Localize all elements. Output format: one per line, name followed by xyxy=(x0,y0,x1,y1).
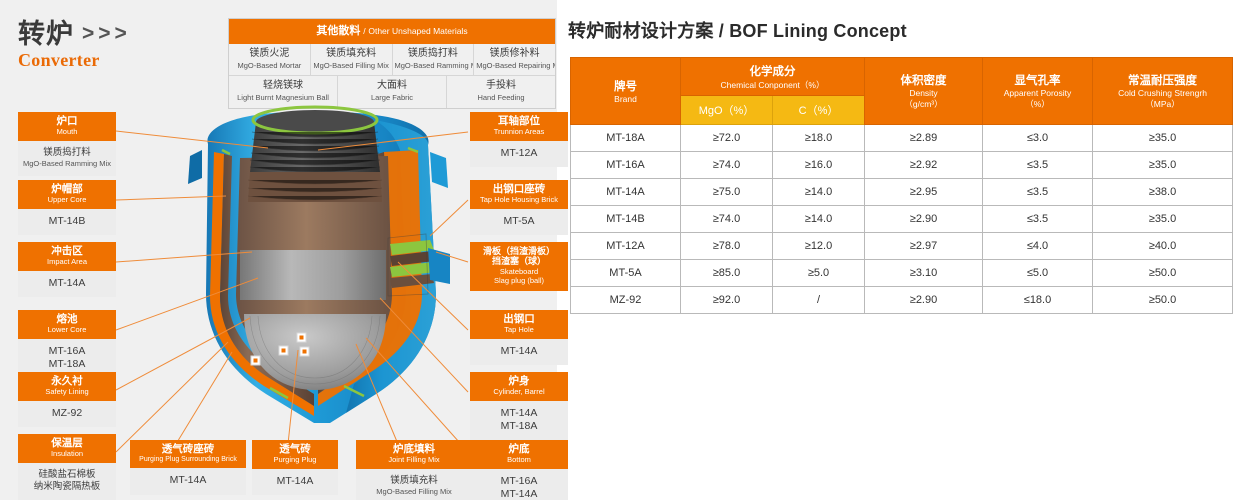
spec-th-carbon: C（%） xyxy=(773,96,865,125)
callout-body: MT-14A xyxy=(470,339,568,366)
callout-body: MT-14A xyxy=(18,271,116,298)
callout-header: 透气砖 Purging Plug xyxy=(252,440,338,469)
spec-th-chemical-en: Chemical Conponent（%） xyxy=(681,79,864,91)
callout-title-cn: 耳轴部位 xyxy=(470,115,568,127)
callout-mouth[interactable]: 炉口 Mouth 镁质捣打料 MgO-Based Ramming Mix xyxy=(18,112,116,176)
cell-mgo: ≥72.0 xyxy=(681,125,773,152)
unshaped-cell-cn: 大面料 xyxy=(340,80,444,93)
unshaped-header-sep: / xyxy=(363,26,365,36)
cell-strength: ≥35.0 xyxy=(1093,125,1233,152)
unshaped-cell: 镁质捣打料 MgO-Based Ramming Mix xyxy=(392,44,474,75)
callout-insulation[interactable]: 保温层 Insulation 硅酸盐石棉板 纳米陶瓷隔热板 xyxy=(18,434,116,500)
unshaped-cell-en: Hand Feeding xyxy=(449,93,553,103)
callout-value: MT-14A xyxy=(18,277,116,291)
cell-carbon: ≥5.0 xyxy=(773,260,865,287)
callout-title-en: Purging Plug xyxy=(252,456,338,465)
callout-header: 炉底填料 Joint Filling Mix xyxy=(356,440,472,469)
cell-mgo: ≥74.0 xyxy=(681,152,773,179)
cell-carbon: / xyxy=(773,287,865,314)
cell-strength: ≥40.0 xyxy=(1093,233,1233,260)
callout-title-en2: Slag plug (ball) xyxy=(470,277,568,286)
cell-porosity: ≤3.5 xyxy=(983,206,1093,233)
cell-density: ≥2.92 xyxy=(865,152,983,179)
callout-title-en: Mouth xyxy=(18,128,116,137)
trunnion-right xyxy=(430,152,448,188)
callout-title-cn: 炉帽部 xyxy=(18,183,116,195)
callout-trunnion-areas[interactable]: 耳轴部位 Trunnion Areas MT-12A xyxy=(470,112,568,167)
callout-title-cn: 出钢口座砖 xyxy=(470,183,568,195)
callout-title-en: Safety Lining xyxy=(18,388,116,397)
callout-joint-filling-mix[interactable]: 炉底填料 Joint Filling Mix 镁质填充料 MgO-Based F… xyxy=(356,440,472,500)
spec-th-density-cn: 体积密度 xyxy=(865,72,982,88)
cell-brand: MT-14B xyxy=(571,206,681,233)
callout-safety-lining[interactable]: 永久衬 Safety Lining MZ-92 xyxy=(18,372,116,427)
trunnion-right-lower xyxy=(428,248,450,284)
callout-body: 镁质捣打料 MgO-Based Ramming Mix xyxy=(18,141,116,176)
callout-body: MZ-92 xyxy=(18,401,116,428)
callout-title-en: Cylinder, Barrel xyxy=(470,388,568,397)
callout-title-cn: 透气砖 xyxy=(252,443,338,455)
unshaped-cell-en: MgO-Based Repairing Mix xyxy=(476,61,553,71)
spec-th-brand: 牌号 Brand xyxy=(571,58,681,125)
unshaped-cell-en: MgO-Based Mortar xyxy=(231,61,308,71)
cell-density: ≥2.90 xyxy=(865,287,983,314)
table-row: MT-14A≥75.0≥14.0≥2.95≤3.5≥38.0 xyxy=(571,179,1233,206)
table-row: MT-5A≥85.0≥5.0≥3.10≤5.0≥50.0 xyxy=(571,260,1233,287)
spec-th-density: 体积密度 Density （g/cm³） xyxy=(865,58,983,125)
callout-value: MT-18A xyxy=(18,358,116,372)
spec-th-porosity-unit: （%） xyxy=(983,98,1092,110)
cell-density: ≥3.10 xyxy=(865,260,983,287)
cell-density: ≥2.90 xyxy=(865,206,983,233)
unshaped-cell: 镁质修补料 MgO-Based Repairing Mix xyxy=(473,44,555,75)
callout-body: MT-14A xyxy=(130,468,246,495)
callout-body: MT-14A xyxy=(252,469,338,496)
table-row: MT-12A≥78.0≥12.0≥2.97≤4.0≥40.0 xyxy=(571,233,1233,260)
callout-title-en: Purging Plug Surrounding Brick xyxy=(130,456,246,464)
callout-value: MT-16A xyxy=(470,475,568,489)
callout-purging-plug[interactable]: 透气砖 Purging Plug MT-14A xyxy=(252,440,338,495)
unshaped-header-en: Other Unshaped Materials xyxy=(368,26,467,36)
callout-skateboard[interactable]: 滑板（挡渣滑板） 挡渣塞（球） Skateboard Slag plug (ba… xyxy=(470,242,568,291)
spec-th-mgo-label: MgO（%） xyxy=(699,105,755,117)
cell-brand: MZ-92 xyxy=(571,287,681,314)
table-row: MT-14B≥74.0≥14.0≥2.90≤3.5≥35.0 xyxy=(571,206,1233,233)
page-root: 转炉>>> Converter 其他散料 / Other Unshaped Ma… xyxy=(0,0,1250,500)
unshaped-cell: 镁质填充料 MgO-Based Filling Mix xyxy=(310,44,392,75)
cell-porosity: ≤4.0 xyxy=(983,233,1093,260)
cell-carbon: ≥18.0 xyxy=(773,125,865,152)
callout-value: MT-16A xyxy=(18,345,116,359)
callout-value: MT-5A xyxy=(470,215,568,229)
cell-brand: MT-16A xyxy=(571,152,681,179)
callout-header: 出钢口 Tap Hole xyxy=(470,310,568,339)
cell-brand: MT-5A xyxy=(571,260,681,287)
callout-value: 镁质捣打料 xyxy=(18,147,116,159)
callout-title-en: Skateboard xyxy=(470,268,568,277)
callout-impact-area[interactable]: 冲击区 Impact Area MT-14A xyxy=(18,242,116,297)
cell-mgo: ≥85.0 xyxy=(681,260,773,287)
spec-th-strength-en: Cold Crushing Strengrh xyxy=(1093,88,1232,98)
unshaped-cell-cn: 镁质火泥 xyxy=(231,48,308,61)
cell-brand: MT-12A xyxy=(571,233,681,260)
spec-th-strength-cn: 常温耐压强度 xyxy=(1093,72,1232,88)
callout-body: MT-16A MT-14A xyxy=(470,469,568,500)
callout-value: MT-18A xyxy=(470,420,568,434)
callout-header: 透气砖座砖 Purging Plug Surrounding Brick xyxy=(130,440,246,468)
callout-title-cn: 冲击区 xyxy=(18,245,116,257)
callout-header: 永久衬 Safety Lining xyxy=(18,372,116,401)
cell-porosity: ≤3.5 xyxy=(983,179,1093,206)
cell-porosity: ≤5.0 xyxy=(983,260,1093,287)
cell-density: ≥2.95 xyxy=(865,179,983,206)
callout-title-en: Upper Core xyxy=(18,196,116,205)
callout-title-en: Insulation xyxy=(18,450,116,459)
callout-value: MT-14A xyxy=(252,475,338,489)
spec-header-row-1: 牌号 Brand 化学成分 Chemical Conponent（%） 体积密度… xyxy=(571,58,1233,96)
cell-strength: ≥38.0 xyxy=(1093,179,1233,206)
callout-value: 镁质填充料 xyxy=(356,475,472,487)
callout-title-cn: 炉口 xyxy=(18,115,116,127)
cell-strength: ≥35.0 xyxy=(1093,152,1233,179)
spec-table: 牌号 Brand 化学成分 Chemical Conponent（%） 体积密度… xyxy=(570,57,1233,314)
converter-vessel-illustration xyxy=(178,98,464,444)
callout-value: MT-12A xyxy=(470,147,568,161)
callout-title-cn: 炉身 xyxy=(470,375,568,387)
callout-title-cn: 炉底 xyxy=(470,443,568,455)
cell-carbon: ≥14.0 xyxy=(773,206,865,233)
cell-porosity: ≤18.0 xyxy=(983,287,1093,314)
cell-porosity: ≤3.0 xyxy=(983,125,1093,152)
callout-body: 镁质填充料 MgO-Based Filling Mix xyxy=(356,469,472,500)
cell-brand: MT-18A xyxy=(571,125,681,152)
unshaped-cell-cn: 轻烧镁球 xyxy=(231,80,335,93)
callout-title-cn: 炉底填料 xyxy=(356,443,472,455)
impact-area-band xyxy=(240,250,386,300)
callout-title-en: Tap Hole xyxy=(470,326,568,335)
callout-header: 炉底 Bottom xyxy=(470,440,568,469)
cell-mgo: ≥92.0 xyxy=(681,287,773,314)
callout-title-cn: 保温层 xyxy=(18,437,116,449)
callout-bottom[interactable]: 炉底 Bottom MT-16A MT-14A xyxy=(470,440,568,500)
unshaped-materials-table: 其他散料 / Other Unshaped Materials 镁质火泥 MgO… xyxy=(228,18,556,109)
cell-mgo: ≥74.0 xyxy=(681,206,773,233)
cell-carbon: ≥14.0 xyxy=(773,179,865,206)
callout-title-cn: 透气砖座砖 xyxy=(130,443,246,455)
cell-carbon: ≥12.0 xyxy=(773,233,865,260)
cell-carbon: ≥16.0 xyxy=(773,152,865,179)
cell-strength: ≥35.0 xyxy=(1093,206,1233,233)
callout-value: MT-14A xyxy=(130,474,246,488)
spec-th-density-en: Density xyxy=(865,88,982,98)
callout-value: MT-14A xyxy=(470,407,568,421)
callout-body: 硅酸盐石棉板 纳米陶瓷隔热板 xyxy=(18,463,116,500)
callout-header: 耳轴部位 Trunnion Areas xyxy=(470,112,568,141)
trunnion-left xyxy=(188,150,202,184)
callout-tap-hole[interactable]: 出钢口 Tap Hole MT-14A xyxy=(470,310,568,365)
unshaped-cell-cn: 手投料 xyxy=(449,80,553,93)
spec-table-body: MT-18A≥72.0≥18.0≥2.89≤3.0≥35.0 MT-16A≥74… xyxy=(571,125,1233,314)
unshaped-row: 镁质火泥 MgO-Based Mortar 镁质填充料 MgO-Based Fi… xyxy=(229,44,555,75)
callout-title-cn: 出钢口 xyxy=(470,313,568,325)
callout-value: MZ-92 xyxy=(18,407,116,421)
unshaped-header-cn: 其他散料 xyxy=(316,25,360,37)
spec-th-porosity-cn: 显气孔率 xyxy=(983,72,1092,88)
callout-body: MT-14A MT-18A xyxy=(470,401,568,441)
callout-header: 熔池 Lower Core xyxy=(18,310,116,339)
spec-th-porosity: 显气孔率 Apparent Porosity （%） xyxy=(983,58,1093,125)
callout-value: MgO-Based Filling Mix xyxy=(356,487,472,497)
callout-title-en: Lower Core xyxy=(18,326,116,335)
callout-value: MT-14A xyxy=(470,345,568,359)
cell-porosity: ≤3.5 xyxy=(983,152,1093,179)
cell-strength: ≥50.0 xyxy=(1093,260,1233,287)
callout-body: MT-12A xyxy=(470,141,568,168)
callout-cylinder-barrel[interactable]: 炉身 Cylinder, Barrel MT-14A MT-18A xyxy=(470,372,568,441)
cell-density: ≥2.97 xyxy=(865,233,983,260)
spec-th-strength: 常温耐压强度 Cold Crushing Strengrh （MPa） xyxy=(1093,58,1233,125)
callout-header: 冲击区 Impact Area xyxy=(18,242,116,271)
spec-table-title: 转炉耐材设计方案 / BOF Lining Concept xyxy=(568,17,907,43)
callout-title-en: Bottom xyxy=(470,456,568,465)
table-row: MT-16A≥74.0≥16.0≥2.92≤3.5≥35.0 xyxy=(571,152,1233,179)
brand-title-en: Converter xyxy=(18,50,131,71)
table-row: MT-18A≥72.0≥18.0≥2.89≤3.0≥35.0 xyxy=(571,125,1233,152)
spec-th-strength-unit: （MPa） xyxy=(1093,98,1232,110)
spec-th-brand-cn: 牌号 xyxy=(571,78,680,94)
callout-header: 炉身 Cylinder, Barrel xyxy=(470,372,568,401)
callout-purging-plug-surrounding-brick[interactable]: 透气砖座砖 Purging Plug Surrounding Brick MT-… xyxy=(130,440,246,495)
callout-value: 纳米陶瓷隔热板 xyxy=(18,481,116,493)
spec-th-density-unit: （g/cm³） xyxy=(865,98,982,110)
callout-title-cn: 永久衬 xyxy=(18,375,116,387)
callout-title-cn2: 挡渣塞（球） xyxy=(470,256,568,266)
callout-header: 出钢口座砖 Tap Hole Housing Brick xyxy=(470,180,568,209)
spec-th-chemical: 化学成分 Chemical Conponent（%） xyxy=(681,58,865,96)
unshaped-cell-cn: 镁质填充料 xyxy=(313,48,390,61)
callout-value: MT-14B xyxy=(18,215,116,229)
brand-title-cn: 转炉 xyxy=(18,20,74,48)
cell-mgo: ≥78.0 xyxy=(681,233,773,260)
callout-upper-core[interactable]: 炉帽部 Upper Core MT-14B xyxy=(18,180,116,235)
unshaped-cell: 镁质火泥 MgO-Based Mortar xyxy=(229,44,310,75)
cell-brand: MT-14A xyxy=(571,179,681,206)
callout-header: 保温层 Insulation xyxy=(18,434,116,463)
callout-title-cn: 熔池 xyxy=(18,313,116,325)
unshaped-cell-cn: 镁质捣打料 xyxy=(395,48,472,61)
callout-title-en: Impact Area xyxy=(18,258,116,267)
callout-lower-core[interactable]: 熔池 Lower Core MT-16A MT-18A xyxy=(18,310,116,379)
spec-th-porosity-en: Apparent Porosity xyxy=(983,88,1092,98)
spec-th-brand-en: Brand xyxy=(571,94,680,104)
spec-th-mgo: MgO（%） xyxy=(681,96,773,125)
spec-th-chemical-cn: 化学成分 xyxy=(681,63,864,79)
unshaped-cell-en: MgO-Based Filling Mix xyxy=(313,61,390,71)
callout-header: 炉帽部 Upper Core xyxy=(18,180,116,209)
callout-header: 滑板（挡渣滑板） 挡渣塞（球） Skateboard Slag plug (ba… xyxy=(470,242,568,291)
callout-title-cn: 滑板（挡渣滑板） xyxy=(470,246,568,256)
unshaped-cell-cn: 镁质修补料 xyxy=(476,48,553,61)
callout-title-en: Trunnion Areas xyxy=(470,128,568,137)
callout-value: 硅酸盐石棉板 xyxy=(18,469,116,481)
spec-th-carbon-label: C（%） xyxy=(799,105,839,117)
callout-header: 炉口 Mouth xyxy=(18,112,116,141)
cell-strength: ≥50.0 xyxy=(1093,287,1233,314)
unshaped-cell-en: MgO-Based Ramming Mix xyxy=(395,61,472,71)
cell-density: ≥2.89 xyxy=(865,125,983,152)
callout-tap-hole-housing[interactable]: 出钢口座砖 Tap Hole Housing Brick MT-5A xyxy=(470,180,568,235)
cell-mgo: ≥75.0 xyxy=(681,179,773,206)
callout-body: MT-5A xyxy=(470,209,568,236)
brand-block: 转炉>>> Converter xyxy=(18,20,131,71)
callout-body: MT-14B xyxy=(18,209,116,236)
callout-value: MgO-Based Ramming Mix xyxy=(18,159,116,169)
unshaped-header: 其他散料 / Other Unshaped Materials xyxy=(229,19,555,44)
callout-value: MT-14A xyxy=(470,488,568,500)
chevron-icon: >>> xyxy=(82,22,131,46)
callout-title-en: Tap Hole Housing Brick xyxy=(470,196,568,205)
table-row: MZ-92≥92.0/≥2.90≤18.0≥50.0 xyxy=(571,287,1233,314)
callout-title-en: Joint Filling Mix xyxy=(356,456,472,465)
